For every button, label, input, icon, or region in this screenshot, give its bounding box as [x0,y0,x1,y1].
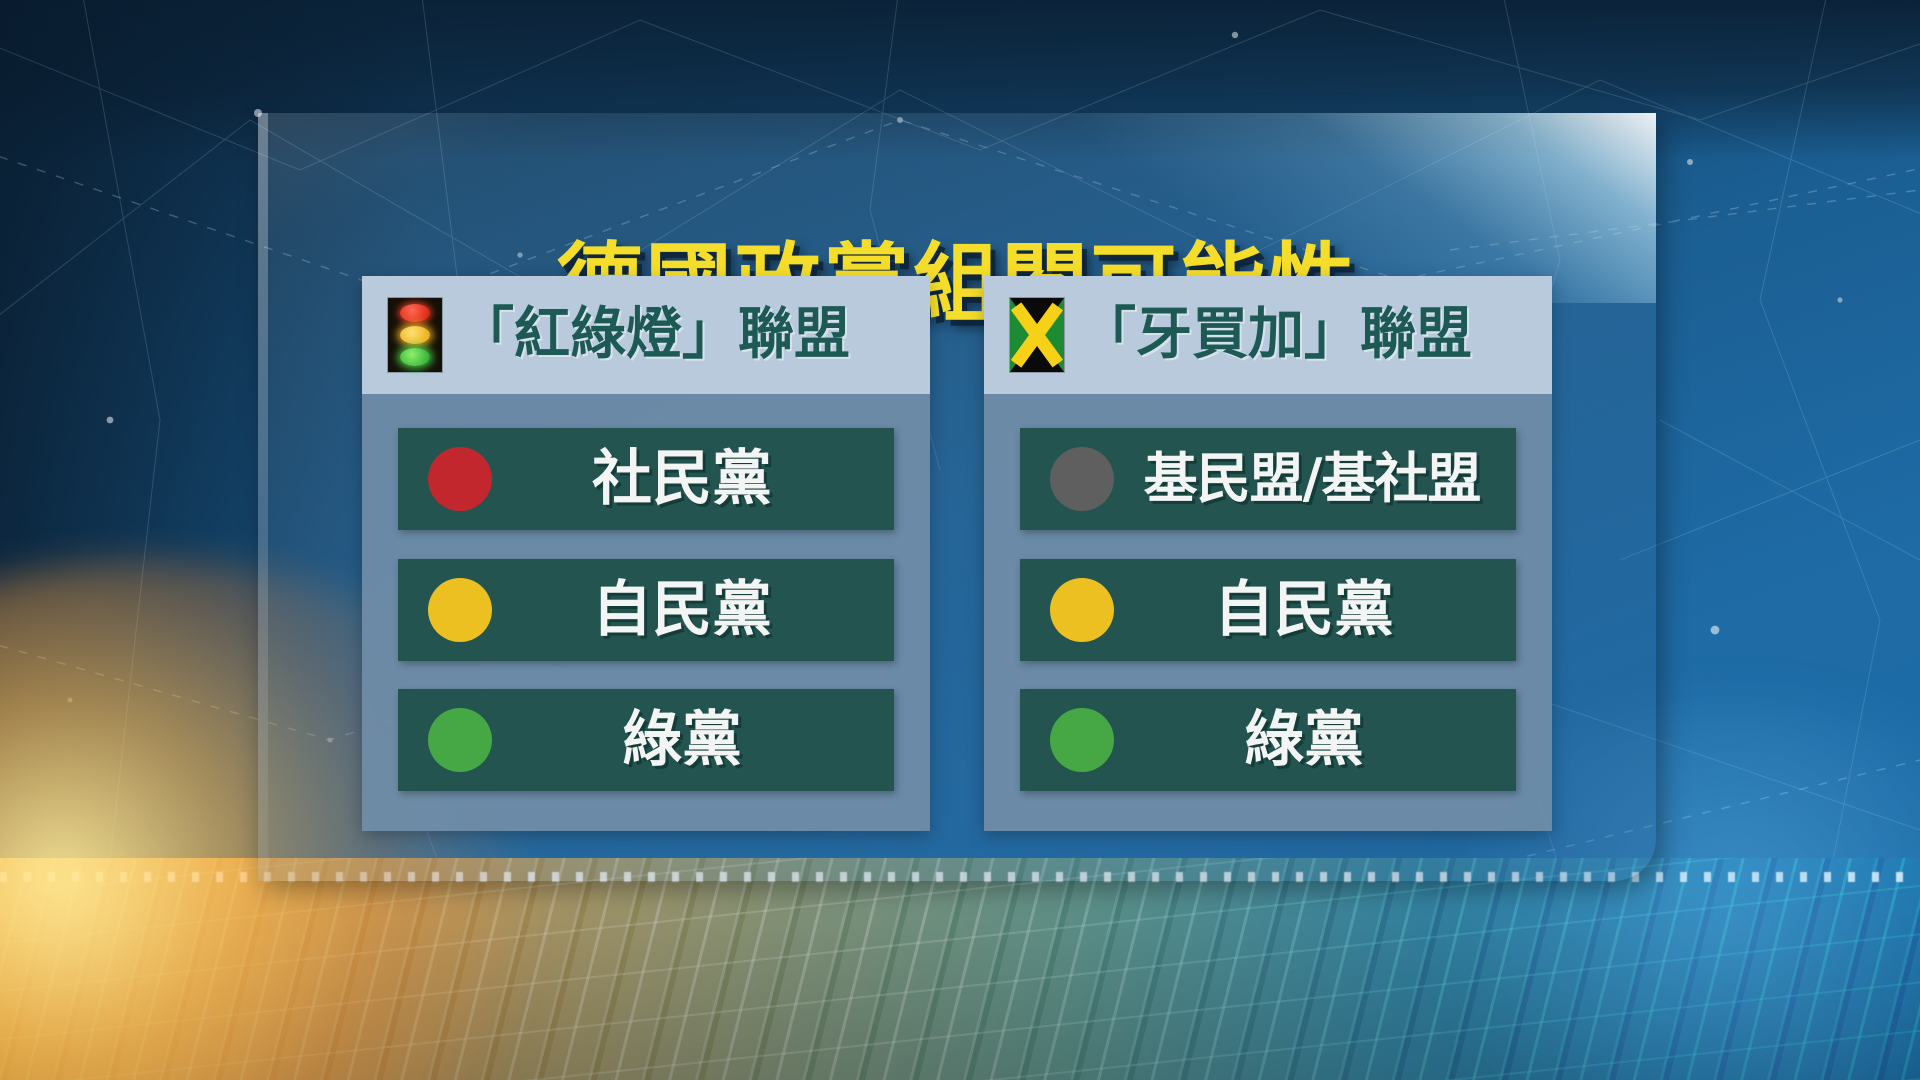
party-row[interactable]: 綠黨 [398,689,894,791]
card-left-edge-highlight [258,113,268,881]
party-label: 社民黨 [492,449,894,509]
party-row[interactable]: 社民黨 [398,428,894,530]
coalition-panel-jamaica[interactable]: 「牙買加」聯盟 基民盟/基社盟 自民黨 綠黨 [984,276,1552,831]
party-color-dot [428,447,492,511]
panel-body: 基民盟/基社盟 自民黨 綠黨 [984,394,1552,831]
party-color-dot [428,578,492,642]
party-label: 基民盟/基社盟 [1114,452,1516,506]
panel-header: 「紅綠燈」聯盟 [362,276,930,394]
party-label: 綠黨 [492,710,894,770]
party-label: 自民黨 [1114,580,1516,640]
coalition-panel-traffic-light[interactable]: 「紅綠燈」聯盟 社民黨 自民黨 綠黨 [362,276,930,831]
party-row[interactable]: 自民黨 [398,559,894,661]
jamaica-flag-icon [1010,298,1064,372]
party-row[interactable]: 基民盟/基社盟 [1020,428,1516,530]
panel-header: 「牙買加」聯盟 [984,276,1552,394]
panel-heading: 「牙買加」聯盟 [1080,307,1472,363]
party-row[interactable]: 自民黨 [1020,559,1516,661]
party-row[interactable]: 綠黨 [1020,689,1516,791]
party-color-dot [1050,708,1114,772]
panel-body: 社民黨 自民黨 綠黨 [362,394,930,831]
party-label: 自民黨 [492,580,894,640]
party-color-dot [1050,578,1114,642]
content-card: 德國政黨組閣可能性 「紅綠燈」聯盟 社民黨 自民 [258,113,1656,881]
traffic-light-icon [388,298,442,372]
party-label: 綠黨 [1114,710,1516,770]
party-color-dot [428,708,492,772]
panel-heading: 「紅綠燈」聯盟 [458,307,850,363]
broadcast-graphic-stage: 德國政黨組閣可能性 「紅綠燈」聯盟 社民黨 自民 [0,0,1920,1080]
coalition-panels: 「紅綠燈」聯盟 社民黨 自民黨 綠黨 [362,276,1552,831]
party-color-dot [1050,447,1114,511]
